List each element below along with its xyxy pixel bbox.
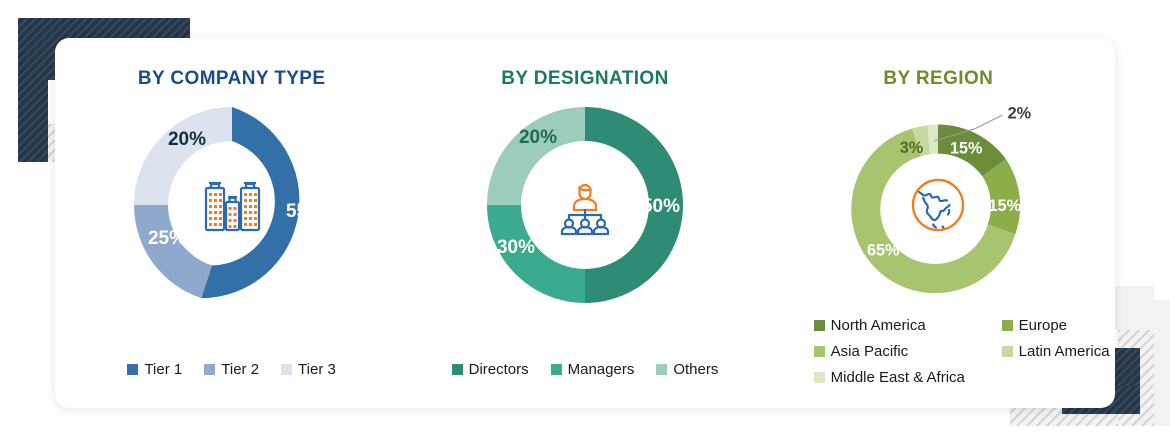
decor-grey-right-edge <box>1154 300 1170 426</box>
panel-title-company-type: BY COMPANY TYPE <box>138 68 326 90</box>
legend-item-others[interactable]: Others <box>656 361 718 378</box>
panel-region: BY REGION <box>762 38 1115 408</box>
buildings-icon <box>195 168 269 242</box>
legend-swatch-tier-3 <box>281 364 292 375</box>
decor-navy-arm-vertical <box>18 18 48 162</box>
legend-region-holder: North America Europe Asia Pacific L <box>814 317 1152 386</box>
legend-label-managers: Managers <box>568 361 635 378</box>
legend-swatch-directors <box>452 364 463 375</box>
legend-label-tier-1: Tier 1 <box>144 361 182 378</box>
legend-item-middle-east-africa[interactable]: Middle East & Africa <box>814 369 992 386</box>
legend-swatch-tier-1 <box>127 364 138 375</box>
slice-label-directors: 50% <box>642 196 680 217</box>
legend-item-europe[interactable]: Europe <box>1002 317 1152 334</box>
slice-label-latin-america: 3% <box>900 139 924 157</box>
legend-item-latin-america[interactable]: Latin America <box>1002 343 1152 360</box>
legend-label-europe: Europe <box>1019 317 1067 334</box>
slice-label-tier-1: 55% <box>286 201 324 222</box>
legend-label-others: Others <box>673 361 718 378</box>
legend-label-directors: Directors <box>469 361 529 378</box>
legend-label-asia-pacific: Asia Pacific <box>831 343 909 360</box>
slice-label-asia-pacific: 65% <box>867 242 900 260</box>
legend-item-managers[interactable]: Managers <box>551 361 635 378</box>
slice-label-others: 20% <box>519 127 557 148</box>
org-chart-icon <box>548 168 622 242</box>
legend-label-tier-2: Tier 2 <box>221 361 259 378</box>
slice-label-middle-east-africa: 2% <box>1008 105 1032 123</box>
donut-chart-designation: 50% 30% 20% <box>478 98 692 312</box>
globe-icon <box>901 168 975 242</box>
legend-designation: Directors Managers Others <box>452 361 719 378</box>
legend-item-tier-3[interactable]: Tier 3 <box>281 361 336 378</box>
legend-swatch-tier-2 <box>204 364 215 375</box>
legend-label-latin-america: Latin America <box>1019 343 1110 360</box>
infographic-canvas: BY COMPANY TYPE 55% 25% 20% <box>0 0 1170 444</box>
legend-item-tier-2[interactable]: Tier 2 <box>204 361 259 378</box>
panel-designation: BY DESIGNATION 50% 30% 20% <box>408 38 761 408</box>
panel-company-type: BY COMPANY TYPE 55% 25% 20% <box>55 38 408 408</box>
slice-label-tier-3: 20% <box>168 129 206 150</box>
legend-label-tier-3: Tier 3 <box>298 361 336 378</box>
legend-company-type: Tier 1 Tier 2 Tier 3 <box>127 361 335 378</box>
legend-item-north-america[interactable]: North America <box>814 317 992 334</box>
legend-item-directors[interactable]: Directors <box>452 361 529 378</box>
panel-title-region: BY REGION <box>883 68 993 90</box>
legend-item-asia-pacific[interactable]: Asia Pacific <box>814 343 992 360</box>
legend-swatch-others <box>656 364 667 375</box>
slice-label-north-america: 15% <box>950 140 983 158</box>
legend-label-north-america: North America <box>831 317 926 334</box>
panel-title-designation: BY DESIGNATION <box>501 68 668 90</box>
slice-label-europe: 15% <box>989 197 1022 215</box>
legend-swatch-north-america <box>814 320 825 331</box>
slice-label-managers: 30% <box>497 237 535 258</box>
legend-label-middle-east-africa: Middle East & Africa <box>831 369 965 386</box>
legend-swatch-managers <box>551 364 562 375</box>
legend-swatch-europe <box>1002 320 1013 331</box>
chart-card: BY COMPANY TYPE 55% 25% 20% <box>55 38 1115 408</box>
donut-chart-company-type: 55% 25% 20% <box>125 98 339 312</box>
legend-region: North America Europe Asia Pacific L <box>814 317 1152 386</box>
legend-swatch-middle-east-africa <box>814 372 825 383</box>
legend-swatch-latin-america <box>1002 346 1013 357</box>
chart-panels: BY COMPANY TYPE 55% 25% 20% <box>55 38 1115 408</box>
slice-label-tier-2: 25% <box>148 228 186 249</box>
donut-chart-region: 2% 15% 15% 65% 3% <box>831 98 1045 312</box>
legend-swatch-asia-pacific <box>814 346 825 357</box>
legend-item-tier-1[interactable]: Tier 1 <box>127 361 182 378</box>
